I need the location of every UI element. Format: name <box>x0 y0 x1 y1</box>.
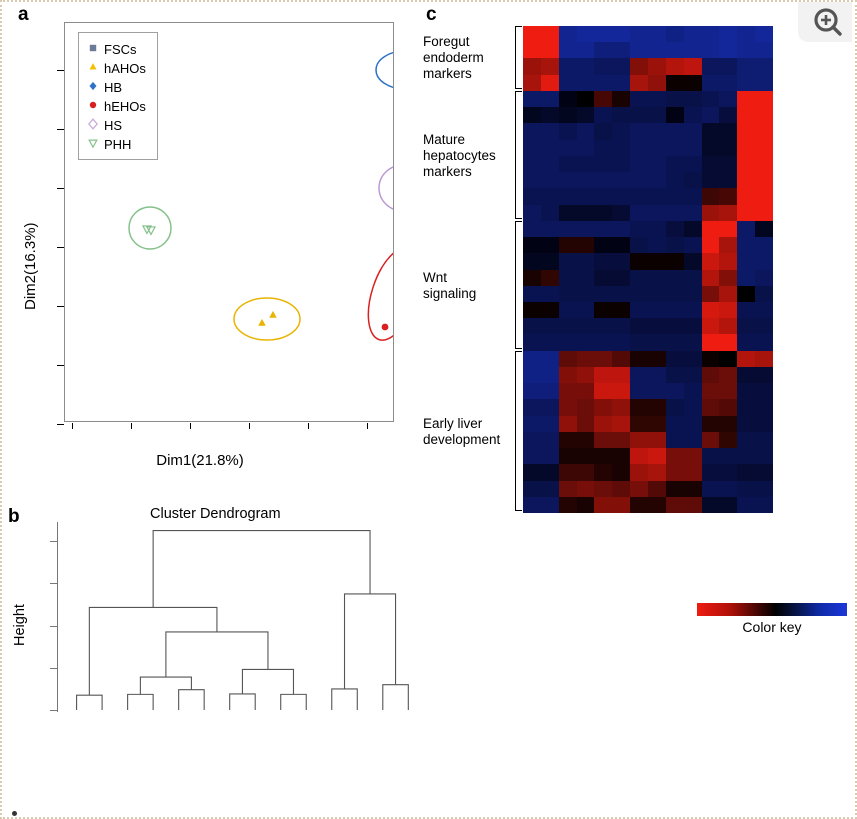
heatmap-cell <box>702 205 720 221</box>
heatmap-cell <box>719 334 737 350</box>
heatmap-cell <box>648 399 666 415</box>
heatmap-cell <box>559 383 577 399</box>
pca-x-tickmark <box>367 423 368 429</box>
heatmap-cell <box>594 107 612 123</box>
legend-item-hehos: hEHOs <box>85 97 151 116</box>
legend-marker-icon <box>85 98 101 116</box>
heatmap-cell <box>648 221 666 237</box>
heatmap-cell <box>577 156 595 172</box>
heatmap-cell <box>719 286 737 302</box>
heatmap-cell <box>702 448 720 464</box>
legend-item-label: hAHOs <box>104 61 146 76</box>
heatmap-cell <box>594 172 612 188</box>
heatmap-cell <box>684 270 702 286</box>
heatmap-cell <box>648 286 666 302</box>
heatmap-cell <box>719 237 737 253</box>
heatmap-cell <box>559 399 577 415</box>
legend-item-fscs: FSCs <box>85 40 151 59</box>
heatmap-cell <box>719 58 737 74</box>
heatmap-group-brace <box>515 26 522 89</box>
heatmap-group-label-line: Foregut <box>423 34 511 50</box>
heatmap-cell <box>684 481 702 497</box>
heatmap-cell <box>612 75 630 91</box>
heatmap-cell <box>523 334 541 350</box>
heatmap-cell <box>559 302 577 318</box>
heatmap-cell <box>523 188 541 204</box>
heatmap-cell <box>541 318 559 334</box>
heatmap-cell <box>702 26 720 42</box>
heatmap-cell <box>630 302 648 318</box>
heatmap-cell <box>594 123 612 139</box>
heatmap-cell <box>702 140 720 156</box>
heatmap-cell <box>755 26 773 42</box>
dendrogram-tree <box>60 514 430 714</box>
heatmap-cell <box>737 42 755 58</box>
heatmap-cell <box>541 448 559 464</box>
heatmap-cell <box>684 351 702 367</box>
heatmap-cell <box>541 123 559 139</box>
heatmap-cell <box>755 464 773 480</box>
heatmap-group-label-line: Mature <box>423 132 511 148</box>
heatmap-cell <box>612 399 630 415</box>
heatmap-cell <box>559 481 577 497</box>
heatmap-group-label-line: markers <box>423 66 511 82</box>
heatmap-cell <box>666 481 684 497</box>
legend-item-hahos: hAHOs <box>85 59 151 78</box>
heatmap-cell <box>755 205 773 221</box>
heatmap-cell <box>559 205 577 221</box>
heatmap-cell <box>666 399 684 415</box>
legend-marker-icon <box>85 41 101 59</box>
heatmap-cell <box>577 205 595 221</box>
heatmap-cell <box>594 156 612 172</box>
heatmap-cell <box>702 156 720 172</box>
heatmap-cell <box>755 140 773 156</box>
heatmap-cell <box>594 334 612 350</box>
heatmap-cell <box>577 464 595 480</box>
heatmap-cell <box>648 318 666 334</box>
panel-b-dendrogram: b Cluster Dendrogram Height <box>0 498 440 818</box>
heatmap-cell <box>559 253 577 269</box>
heatmap-cell <box>577 497 595 513</box>
heatmap-cell <box>666 237 684 253</box>
heatmap-cell <box>755 237 773 253</box>
color-key: Color key <box>697 603 847 616</box>
heatmap-cell <box>559 497 577 513</box>
heatmap-cell <box>684 156 702 172</box>
heatmap-cell <box>559 432 577 448</box>
pca-legend: FSCshAHOsHBhEHOsHSPHH <box>78 32 158 160</box>
heatmap-cell <box>523 481 541 497</box>
pca-y-tickmark <box>57 247 64 248</box>
heatmap-cell <box>541 270 559 286</box>
heatmap-cell <box>523 42 541 58</box>
panel-c-letter: c <box>426 4 437 26</box>
heatmap-cell <box>630 75 648 91</box>
heatmap-cell <box>755 367 773 383</box>
heatmap-cell <box>523 448 541 464</box>
dendrogram-y-tickmark <box>50 710 57 711</box>
heatmap-cell <box>594 58 612 74</box>
heatmap-cell <box>684 91 702 107</box>
heatmap-cell <box>684 75 702 91</box>
magnifier-plus-glyph <box>811 6 845 40</box>
heatmap-cell <box>594 399 612 415</box>
heatmap-cell <box>630 156 648 172</box>
heatmap-cell <box>577 302 595 318</box>
heatmap-cell <box>684 334 702 350</box>
heatmap-cell <box>702 351 720 367</box>
heatmap-cell <box>577 367 595 383</box>
heatmap-cell <box>541 91 559 107</box>
heatmap-cell <box>630 399 648 415</box>
heatmap-cell <box>630 497 648 513</box>
heatmap-cell <box>523 140 541 156</box>
heatmap-cell <box>719 188 737 204</box>
heatmap-cell <box>523 75 541 91</box>
heatmap-group-label: Early liverdevelopment <box>423 416 511 448</box>
heatmap-cell <box>684 172 702 188</box>
heatmap-cell <box>737 221 755 237</box>
heatmap-cell <box>684 367 702 383</box>
heatmap-cell <box>666 302 684 318</box>
heatmap-cell <box>737 432 755 448</box>
heatmap-cell <box>577 416 595 432</box>
heatmap-cell <box>594 221 612 237</box>
heatmap-cell <box>523 497 541 513</box>
heatmap-cell <box>577 221 595 237</box>
heatmap-cell <box>577 318 595 334</box>
heatmap-cell <box>612 464 630 480</box>
heatmap-cell <box>523 464 541 480</box>
legend-marker-icon <box>85 136 101 154</box>
color-key-gradient-bar <box>697 603 847 616</box>
heatmap-group-label: Foregutendodermmarkers <box>423 34 511 82</box>
page-bottom-marker <box>12 811 17 816</box>
heatmap-cell <box>559 42 577 58</box>
heatmap-cell <box>648 123 666 139</box>
heatmap-cell <box>737 123 755 139</box>
heatmap-cell <box>666 123 684 139</box>
pca-y-tickmark <box>57 188 64 189</box>
heatmap-cell <box>648 253 666 269</box>
heatmap-cell <box>541 75 559 91</box>
dendrogram-y-axis-line <box>57 522 58 712</box>
heatmap-cell <box>577 334 595 350</box>
legend-item-label: HB <box>104 80 122 95</box>
heatmap-cell <box>648 107 666 123</box>
heatmap-cell <box>702 318 720 334</box>
heatmap-cell <box>541 221 559 237</box>
heatmap-cell <box>630 286 648 302</box>
heatmap-cell <box>719 91 737 107</box>
heatmap-cell <box>594 286 612 302</box>
heatmap-cell <box>755 107 773 123</box>
heatmap-cell <box>755 172 773 188</box>
heatmap-cell <box>702 123 720 139</box>
heatmap-cell <box>719 432 737 448</box>
heatmap-cell <box>737 367 755 383</box>
legend-item-label: hEHOs <box>104 99 146 114</box>
heatmap-cell <box>577 123 595 139</box>
heatmap-cell <box>719 464 737 480</box>
heatmap-cell <box>612 172 630 188</box>
heatmap-cell <box>594 270 612 286</box>
heatmap-group-label-line: development <box>423 432 511 448</box>
heatmap-cell <box>702 464 720 480</box>
heatmap-cell <box>755 270 773 286</box>
heatmap-cell <box>577 237 595 253</box>
heatmap-cell <box>737 172 755 188</box>
heatmap-cell <box>755 42 773 58</box>
heatmap-cell <box>737 253 755 269</box>
heatmap-cell <box>755 481 773 497</box>
heatmap-cell <box>666 416 684 432</box>
heatmap-cell <box>684 416 702 432</box>
heatmap-cell <box>684 205 702 221</box>
heatmap-cell <box>630 253 648 269</box>
pca-y-tickmark <box>57 70 64 71</box>
pca-y-tickmark <box>57 306 64 307</box>
heatmap-cell <box>594 253 612 269</box>
heatmap-cell <box>737 318 755 334</box>
heatmap-cell <box>719 156 737 172</box>
heatmap-cell <box>523 367 541 383</box>
heatmap-cell <box>612 205 630 221</box>
heatmap-cell <box>648 172 666 188</box>
heatmap-cell <box>594 383 612 399</box>
magnifier-plus-icon[interactable] <box>798 2 852 42</box>
legend-marker-icon <box>85 117 101 135</box>
heatmap-cell <box>684 221 702 237</box>
heatmap-cell <box>666 91 684 107</box>
heatmap-cell <box>630 91 648 107</box>
heatmap-cell <box>523 26 541 42</box>
heatmap-cell <box>666 107 684 123</box>
heatmap-cell <box>577 286 595 302</box>
heatmap-cell <box>737 286 755 302</box>
heatmap-cell <box>666 172 684 188</box>
heatmap-cell <box>523 318 541 334</box>
heatmap-cell <box>523 107 541 123</box>
heatmap-cell <box>684 123 702 139</box>
heatmap-cell <box>755 75 773 91</box>
heatmap-cell <box>559 58 577 74</box>
heatmap-cell <box>684 26 702 42</box>
heatmap-cell <box>541 107 559 123</box>
heatmap-cell <box>702 91 720 107</box>
heatmap-cell <box>684 237 702 253</box>
heatmap-cell <box>523 432 541 448</box>
heatmap-cell <box>577 383 595 399</box>
heatmap-cell <box>666 188 684 204</box>
heatmap-cell <box>559 334 577 350</box>
legend-marker-icon <box>85 79 101 97</box>
heatmap-cell <box>737 302 755 318</box>
heatmap-cell <box>719 367 737 383</box>
heatmap-cell <box>630 383 648 399</box>
heatmap-cell <box>719 107 737 123</box>
heatmap-cell <box>541 432 559 448</box>
legend-marker-icon <box>85 60 101 78</box>
heatmap-cell <box>577 399 595 415</box>
heatmap-cell <box>648 91 666 107</box>
heatmap-cell <box>612 140 630 156</box>
heatmap-cell <box>684 318 702 334</box>
heatmap-cell <box>612 58 630 74</box>
heatmap-cell <box>648 464 666 480</box>
heatmap-cell <box>541 58 559 74</box>
heatmap-cell <box>755 432 773 448</box>
heatmap-cell <box>559 156 577 172</box>
heatmap-cell <box>559 91 577 107</box>
legend-item-phh: PHH <box>85 135 151 154</box>
heatmap-cell <box>666 205 684 221</box>
heatmap-cell <box>630 172 648 188</box>
heatmap-cell <box>577 75 595 91</box>
heatmap-cell <box>684 253 702 269</box>
heatmap-cell <box>630 270 648 286</box>
heatmap-group-label-line: endoderm <box>423 50 511 66</box>
legend-item-label: HS <box>104 118 122 133</box>
heatmap-cell <box>559 221 577 237</box>
heatmap-group-label-line: markers <box>423 164 511 180</box>
heatmap-cell <box>523 91 541 107</box>
heatmap-cell <box>577 188 595 204</box>
heatmap-cell <box>719 302 737 318</box>
heatmap-cell <box>630 123 648 139</box>
heatmap-cell <box>648 140 666 156</box>
heatmap-cell <box>559 140 577 156</box>
heatmap-cell <box>630 432 648 448</box>
heatmap-cell <box>666 448 684 464</box>
heatmap-cell <box>594 205 612 221</box>
heatmap-cell <box>648 302 666 318</box>
heatmap-cell <box>648 367 666 383</box>
panel-c-heatmap: c ForegutendodermmarkersMaturehepatocyte… <box>420 0 857 680</box>
heatmap-cell <box>737 497 755 513</box>
heatmap-cell <box>702 270 720 286</box>
heatmap-cell <box>755 286 773 302</box>
heatmap-cell <box>612 91 630 107</box>
heatmap-cell <box>577 253 595 269</box>
heatmap-cell <box>577 481 595 497</box>
heatmap-cell <box>612 237 630 253</box>
heatmap-cell <box>737 399 755 415</box>
heatmap-cell <box>630 351 648 367</box>
heatmap-cell <box>523 253 541 269</box>
heatmap-cell <box>755 188 773 204</box>
figure-root: a FSCshAHOsHBhEHOsHSPHH Dim1(21.8%) Dim2… <box>0 0 857 819</box>
heatmap-cell <box>523 383 541 399</box>
heatmap-cell <box>648 270 666 286</box>
heatmap-cell <box>541 367 559 383</box>
heatmap-cell <box>612 123 630 139</box>
heatmap-cell <box>684 286 702 302</box>
heatmap-cell <box>719 205 737 221</box>
heatmap-cell <box>594 318 612 334</box>
heatmap-cell <box>541 156 559 172</box>
heatmap-cell <box>755 58 773 74</box>
heatmap-cell <box>541 42 559 58</box>
heatmap-cell <box>559 26 577 42</box>
heatmap-cell <box>523 270 541 286</box>
heatmap-cell <box>719 26 737 42</box>
heatmap-cell <box>594 464 612 480</box>
legend-item-hb: HB <box>85 78 151 97</box>
heatmap-cell <box>737 205 755 221</box>
heatmap-cell <box>559 351 577 367</box>
heatmap-cell <box>612 432 630 448</box>
heatmap-cell <box>755 497 773 513</box>
heatmap-cell <box>755 416 773 432</box>
heatmap-cell <box>612 334 630 350</box>
pca-x-axis-label: Dim1(21.8%) <box>156 452 244 469</box>
heatmap-cell <box>719 481 737 497</box>
heatmap-cell <box>719 497 737 513</box>
heatmap-cell <box>702 383 720 399</box>
heatmap-cell <box>612 383 630 399</box>
heatmap-cell <box>648 383 666 399</box>
heatmap-cell <box>702 42 720 58</box>
heatmap-cell <box>684 42 702 58</box>
heatmap-cell <box>612 188 630 204</box>
heatmap-cell <box>612 302 630 318</box>
heatmap-cell <box>702 497 720 513</box>
heatmap-cell <box>648 75 666 91</box>
heatmap-group-brace <box>515 221 522 349</box>
heatmap-cell <box>612 367 630 383</box>
heatmap-cell <box>523 286 541 302</box>
heatmap-cell <box>612 481 630 497</box>
heatmap-cell <box>737 237 755 253</box>
heatmap-cell <box>541 26 559 42</box>
heatmap-cell <box>523 399 541 415</box>
heatmap-cell <box>541 140 559 156</box>
heatmap-cell <box>737 448 755 464</box>
heatmap-cell <box>702 367 720 383</box>
heatmap-group-brace <box>515 91 522 219</box>
heatmap-cell <box>648 351 666 367</box>
heatmap-cell <box>594 448 612 464</box>
heatmap-cell <box>666 497 684 513</box>
heatmap-cell <box>523 205 541 221</box>
heatmap-cell <box>559 416 577 432</box>
heatmap-cell <box>648 432 666 448</box>
heatmap-cell <box>737 464 755 480</box>
heatmap-cell <box>577 107 595 123</box>
heatmap-cell <box>684 188 702 204</box>
heatmap-cell <box>666 432 684 448</box>
heatmap-cell <box>594 432 612 448</box>
heatmap-cell <box>594 188 612 204</box>
heatmap-cell <box>737 75 755 91</box>
heatmap-cell <box>666 140 684 156</box>
panel-b-letter: b <box>8 506 20 528</box>
heatmap-cell <box>523 221 541 237</box>
heatmap-cell <box>755 221 773 237</box>
heatmap-cell <box>702 221 720 237</box>
heatmap-cell <box>755 351 773 367</box>
heatmap-cell <box>737 140 755 156</box>
heatmap-cell <box>702 188 720 204</box>
heatmap-cell <box>737 334 755 350</box>
heatmap-cell <box>719 140 737 156</box>
heatmap-cell <box>594 75 612 91</box>
heatmap-cell <box>630 334 648 350</box>
heatmap-cell <box>630 448 648 464</box>
heatmap-cell <box>541 253 559 269</box>
